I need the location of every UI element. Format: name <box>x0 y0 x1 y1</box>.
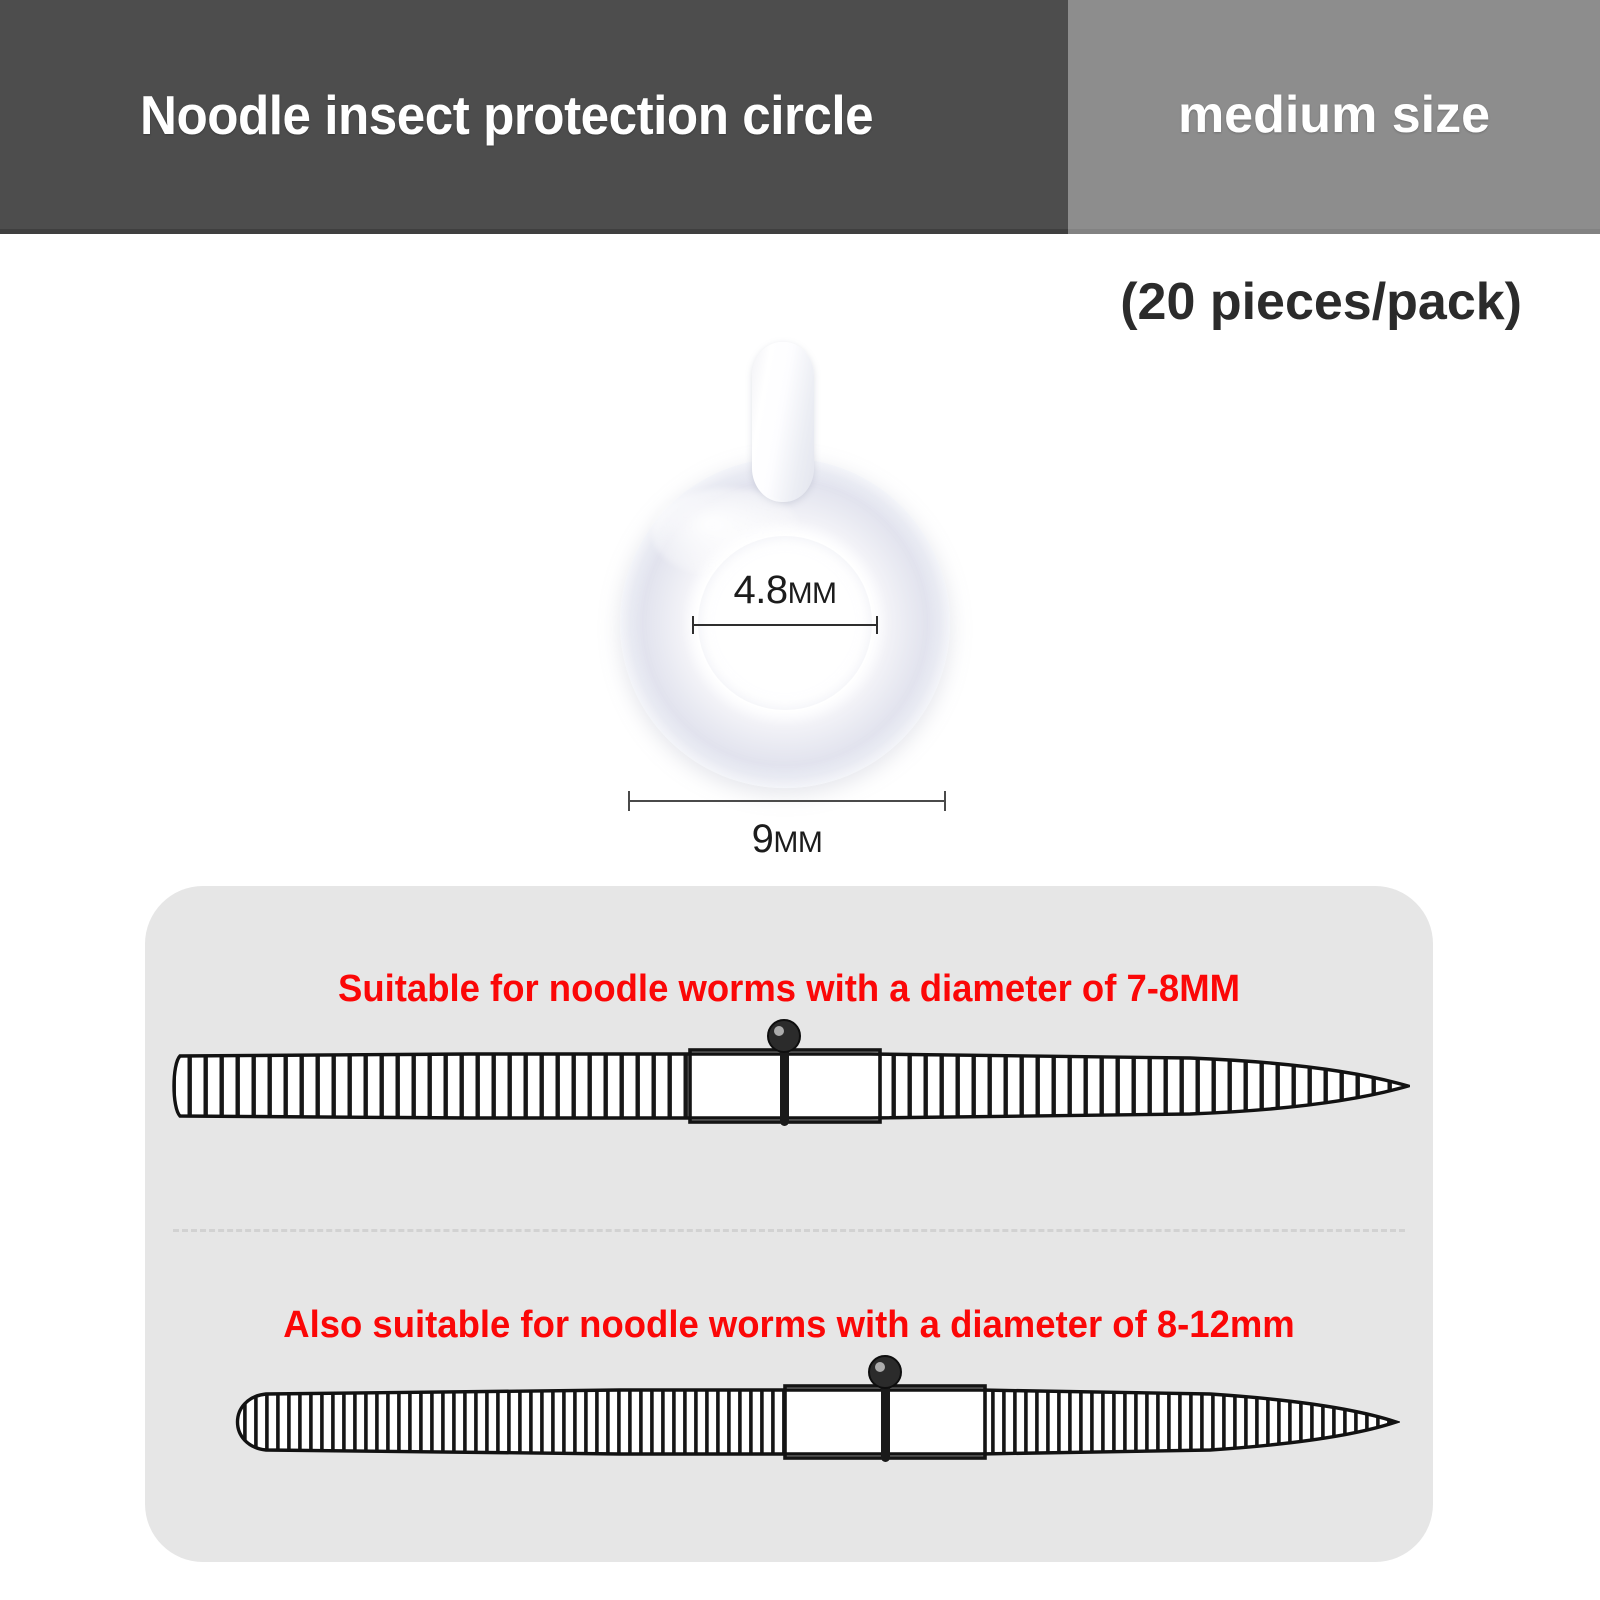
inner-diameter-label: 4.8MM <box>692 570 878 610</box>
header-size-panel: medium size <box>1068 0 1600 234</box>
noodle-worm-illustration-1 <box>170 1018 1410 1153</box>
size-badge: medium size <box>1178 85 1490 145</box>
outer-diameter-label: 9MM <box>628 819 946 859</box>
product-ring-figure: 4.8MM 9MM <box>600 330 1000 860</box>
inner-diameter-unit: MM <box>788 577 837 610</box>
compatibility-caption-2: Also suitable for noodle worms with a di… <box>171 1304 1407 1347</box>
ring-ball-highlight <box>875 1362 885 1372</box>
inner-dimension-line <box>692 616 878 634</box>
outer-diameter-value: 9 <box>752 817 774 861</box>
header-bar: Noodle insect protection circle medium s… <box>0 0 1600 234</box>
dimension-bar <box>692 624 878 626</box>
ring-tab <box>752 342 814 502</box>
ring-ball <box>768 1020 800 1052</box>
noodle-worm-illustration-2 <box>220 1354 1400 1489</box>
inner-diameter-callout: 4.8MM <box>692 570 878 634</box>
panel-divider <box>173 1229 1405 1232</box>
outer-diameter-unit: MM <box>773 826 822 859</box>
compatibility-caption-1: Suitable for noodle worms with a diamete… <box>171 968 1407 1011</box>
inner-diameter-value: 4.8 <box>733 568 787 612</box>
outer-diameter-callout: 9MM <box>628 785 946 859</box>
worm-diagram-1-svg <box>170 1018 1410 1153</box>
compatibility-panel: Suitable for noodle worms with a diamete… <box>145 886 1433 1562</box>
ring-ball <box>869 1356 901 1388</box>
outer-dimension-line <box>628 791 946 811</box>
header-title-panel: Noodle insect protection circle <box>0 0 1068 234</box>
ring-ball-highlight <box>774 1026 784 1036</box>
dimension-bar <box>628 800 946 802</box>
dimension-tick-right <box>944 791 946 811</box>
page-title: Noodle insect protection circle <box>140 83 873 147</box>
pack-count-label: (20 pieces/pack) <box>1120 272 1522 332</box>
worm-diagram-2-svg <box>220 1354 1400 1489</box>
dimension-tick-right <box>876 616 878 634</box>
